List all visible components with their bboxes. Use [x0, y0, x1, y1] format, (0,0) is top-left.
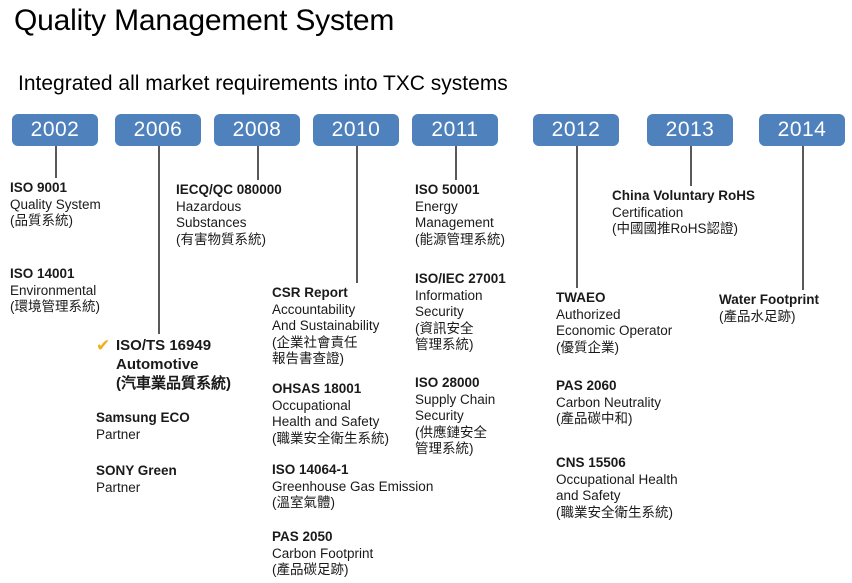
entry-translation-line1: (環境管理系統)	[10, 299, 100, 316]
entry-translation-line1: (供應鏈安全	[415, 425, 495, 442]
timeline-entry: ISO 14064-1Greenhouse Gas Emission(溫室氣體)	[272, 462, 433, 512]
entry-translation-line1: (產品碳足跡)	[272, 562, 373, 579]
entry-description-line1: Environmental	[10, 283, 100, 300]
entry-description-line2: Substances	[176, 215, 282, 232]
timeline-entry: PAS 2050Carbon Footprint(產品碳足跡)	[272, 529, 373, 579]
entry-standard-name: CSR Report	[272, 285, 379, 302]
timeline-entry: OHSAS 18001OccupationalHealth and Safety…	[272, 381, 389, 447]
entry-standard-name: Water Footprint	[719, 292, 819, 309]
entry-description-line2: Management	[415, 215, 505, 232]
entry-standard-name: Samsung ECO	[96, 410, 190, 427]
entry-translation-line1: (產品碳中和)	[556, 411, 661, 428]
entry-standard-name: ISO 50001	[415, 182, 505, 199]
entry-standard-name: ISO/TS 16949	[116, 336, 231, 355]
timeline-entry: SONY GreenPartner	[96, 463, 177, 496]
timeline-entry: ISO 50001EnergyManagement(能源管理系統)	[415, 182, 505, 248]
entry-description-line1: Information	[415, 288, 506, 305]
connector-line-2013	[690, 146, 692, 186]
entry-description-line1: Automotive	[116, 355, 231, 374]
timeline-entry: ISO 14001Environmental(環境管理系統)	[10, 266, 100, 316]
entry-standard-name: ISO/IEC 27001	[415, 271, 506, 288]
entry-translation-line1: (品質系統)	[10, 213, 101, 230]
year-chip-2006[interactable]: 2006	[115, 114, 201, 146]
connector-line-2008	[257, 146, 259, 180]
timeline-entry: Samsung ECOPartner	[96, 410, 190, 443]
entry-description-line1: Authorized	[556, 307, 672, 324]
entry-description-line1: Greenhouse Gas Emission	[272, 479, 433, 496]
entry-translation-line1: (資訊安全	[415, 321, 506, 338]
entry-standard-name: SONY Green	[96, 463, 177, 480]
entry-translation-line2: 管理系統)	[415, 337, 506, 354]
entry-standard-name: ISO 9001	[10, 180, 101, 197]
timeline-entry: CNS 15506Occupational Healthand Safety(職…	[556, 455, 678, 521]
entry-description-line2: And Sustainability	[272, 318, 379, 335]
entry-standard-name: PAS 2060	[556, 378, 661, 395]
timeline-entry: CSR ReportAccountabilityAnd Sustainabili…	[272, 285, 379, 368]
entry-description-line1: Supply Chain	[415, 392, 495, 409]
connector-line-2011	[455, 146, 457, 180]
slide-canvas: Quality Management System Integrated all…	[0, 0, 852, 583]
entry-description-line2: Economic Operator	[556, 323, 672, 340]
page-subtitle: Integrated all market requirements into …	[18, 72, 508, 96]
entry-standard-name: IECQ/QC 080000	[176, 182, 282, 199]
entry-description-line1: Accountability	[272, 302, 379, 319]
timeline-entry: ISO/IEC 27001InformationSecurity(資訊安全管理系…	[415, 271, 506, 354]
entry-standard-name: ISO 14001	[10, 266, 100, 283]
entry-description-line2: Security	[415, 408, 495, 425]
entry-description-line1: Carbon Footprint	[272, 546, 373, 563]
entry-standard-name: PAS 2050	[272, 529, 373, 546]
entry-description-line1: Hazardous	[176, 199, 282, 216]
year-chip-2012[interactable]: 2012	[533, 114, 619, 146]
entry-description-line1: Occupational Health	[556, 472, 678, 489]
timeline-entry: China Voluntary RoHSCertification(中國國推Ro…	[612, 188, 755, 238]
year-chip-2008[interactable]: 2008	[214, 114, 300, 146]
timeline-entry: ✔ISO/TS 16949Automotive(汽車業品質系統)	[116, 336, 231, 393]
entry-translation-line1: (汽車業品質系統)	[116, 374, 231, 393]
entry-description-line2: and Safety	[556, 488, 678, 505]
entry-description-line1: Carbon Neutrality	[556, 395, 661, 412]
year-chip-2010[interactable]: 2010	[313, 114, 399, 146]
connector-line-2002	[55, 146, 57, 178]
entry-translation-line1: (企業社會責任	[272, 335, 379, 352]
page-title: Quality Management System	[14, 4, 394, 38]
entry-description-line1: Partner	[96, 427, 190, 444]
connector-line-2014	[802, 146, 804, 290]
entry-translation-line2: 報告書查證)	[272, 351, 379, 368]
entry-description-line1: Certification	[612, 205, 755, 222]
entry-description-line1: Occupational	[272, 398, 389, 415]
entry-translation-line1: (有害物質系統)	[176, 232, 282, 249]
entry-description-line1: Quality System	[10, 197, 101, 214]
entry-translation-line1: (職業安全衛生系統)	[556, 505, 678, 522]
entry-translation-line1: (產品水足跡)	[719, 309, 819, 326]
connector-line-2006	[158, 146, 160, 334]
connector-line-2010	[356, 146, 358, 283]
year-chip-2014[interactable]: 2014	[759, 114, 845, 146]
entry-standard-name: TWAEO	[556, 290, 672, 307]
timeline-entry: ISO 28000Supply ChainSecurity(供應鏈安全管理系統)	[415, 375, 495, 458]
year-chip-2002[interactable]: 2002	[12, 114, 98, 146]
entry-description-line2: Health and Safety	[272, 414, 389, 431]
entry-translation-line2: 管理系統)	[415, 441, 495, 458]
entry-translation-line1: (溫室氣體)	[272, 495, 433, 512]
timeline-entry: TWAEOAuthorizedEconomic Operator(優質企業)	[556, 290, 672, 356]
entry-translation-line1: (中國國推RoHS認證)	[612, 221, 755, 238]
entry-standard-name: China Voluntary RoHS	[612, 188, 755, 205]
timeline-entry: Water Footprint(產品水足跡)	[719, 292, 819, 325]
entry-description-line1: Energy	[415, 199, 505, 216]
timeline-entry: PAS 2060Carbon Neutrality(產品碳中和)	[556, 378, 661, 428]
entry-standard-name: ISO 28000	[415, 375, 495, 392]
entry-standard-name: CNS 15506	[556, 455, 678, 472]
year-chip-2013[interactable]: 2013	[647, 114, 733, 146]
check-icon: ✔	[96, 338, 112, 354]
entry-translation-line1: (職業安全衛生系統)	[272, 431, 389, 448]
entry-description-line2: Security	[415, 304, 506, 321]
timeline-entry: ISO 9001Quality System(品質系統)	[10, 180, 101, 230]
year-chip-2011[interactable]: 2011	[412, 114, 498, 146]
entry-standard-name: ISO 14064-1	[272, 462, 433, 479]
entry-standard-name: OHSAS 18001	[272, 381, 389, 398]
connector-line-2012	[576, 146, 578, 288]
timeline-entry: IECQ/QC 080000HazardousSubstances(有害物質系統…	[176, 182, 282, 248]
entry-translation-line1: (優質企業)	[556, 340, 672, 357]
entry-description-line1: Partner	[96, 480, 177, 497]
entry-translation-line1: (能源管理系統)	[415, 232, 505, 249]
